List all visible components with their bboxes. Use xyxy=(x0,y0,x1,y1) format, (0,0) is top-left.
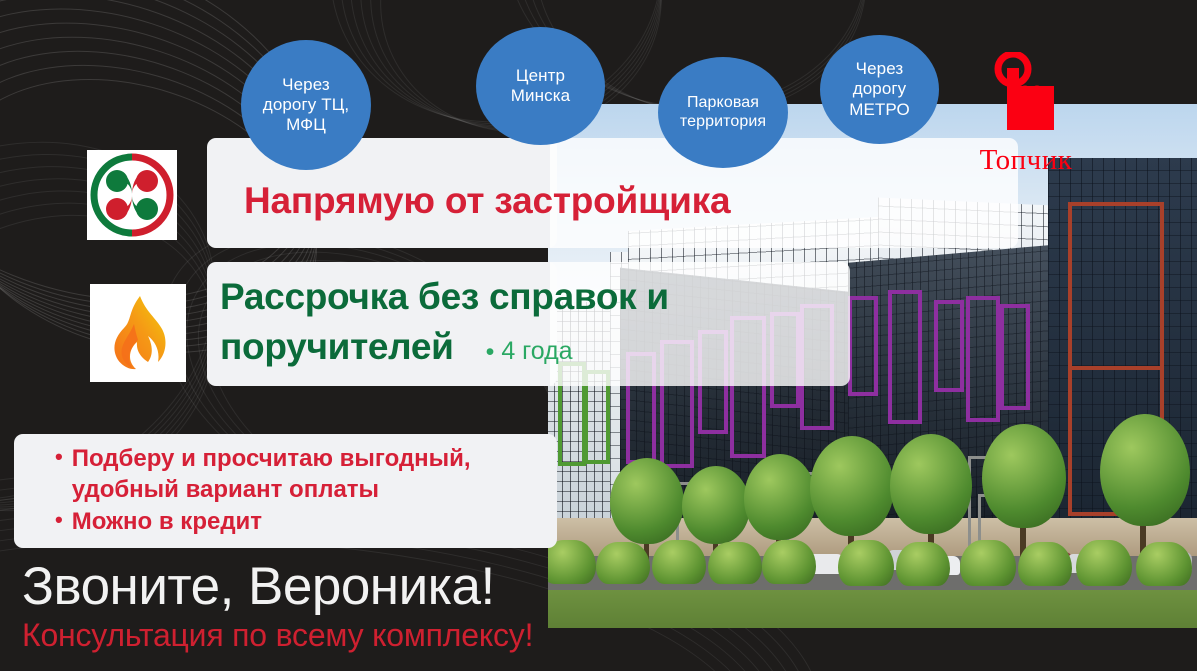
bullet-marker: • xyxy=(55,507,63,533)
list-item: • Подберу и просчитаю выгодный, удобный … xyxy=(55,444,525,505)
installment-line-2-group: поручителей • 4 года xyxy=(220,326,573,368)
flame-icon xyxy=(90,284,186,382)
tree xyxy=(810,436,894,536)
installment-line-1: Рассрочка без справок и xyxy=(220,276,669,318)
benefit-text: Подберу и просчитаю выгодный, удобный ва… xyxy=(72,444,525,505)
headline-primary: Напрямую от застройщика xyxy=(244,180,730,222)
installment-term: 4 года xyxy=(501,337,572,365)
circle-line: дорогу ТЦ, xyxy=(255,95,357,115)
street-lawn xyxy=(548,590,1197,628)
tree xyxy=(1100,414,1190,526)
advertisement-banner: Через дорогу ТЦ, МФЦ Центр Минска Парков… xyxy=(0,0,1197,671)
circle-line: Через xyxy=(841,59,918,79)
tree xyxy=(890,434,972,534)
tree xyxy=(610,458,684,544)
circle-line: Через xyxy=(255,75,357,95)
benefit-text: Можно в кредит xyxy=(72,507,525,538)
tree xyxy=(982,424,1066,528)
tree xyxy=(682,466,750,544)
installment-line-2: поручителей xyxy=(220,326,454,367)
circle-line: МФЦ xyxy=(255,115,357,135)
circle-line: Центр xyxy=(503,66,578,86)
list-item: • Можно в кредит xyxy=(55,507,525,538)
circle-line: Парковая xyxy=(672,94,774,113)
circle-line: Минска xyxy=(503,86,578,106)
circle-line: МЕТРО xyxy=(841,100,918,120)
brand-logo[interactable]: Топчик xyxy=(966,52,1086,170)
circle-line: территория xyxy=(672,113,774,132)
flame-badge xyxy=(90,284,186,382)
feature-circle-metro[interactable]: Через дорогу МЕТРО xyxy=(820,35,939,144)
tree xyxy=(744,454,816,540)
four-leaf-clover-icon xyxy=(87,150,177,240)
feature-circle-center-minsk[interactable]: Центр Минска xyxy=(476,27,605,145)
circle-line: дорогу xyxy=(841,79,918,99)
clover-badge xyxy=(87,150,177,240)
feature-circle-tc-mfc[interactable]: Через дорогу ТЦ, МФЦ xyxy=(241,40,371,170)
feature-circle-park-area[interactable]: Парковая территория xyxy=(658,57,788,168)
call-to-action-subtitle: Консультация по всему комплексу! xyxy=(22,617,533,654)
installment-bullet: • xyxy=(486,338,495,366)
benefits-list: • Подберу и просчитаю выгодный, удобный … xyxy=(55,444,525,540)
call-to-action-title: Звоните, Вероника! xyxy=(22,556,495,617)
bullet-marker: • xyxy=(55,444,63,470)
brand-name: Топчик xyxy=(966,144,1086,177)
hand-pointer-icon xyxy=(983,52,1069,144)
